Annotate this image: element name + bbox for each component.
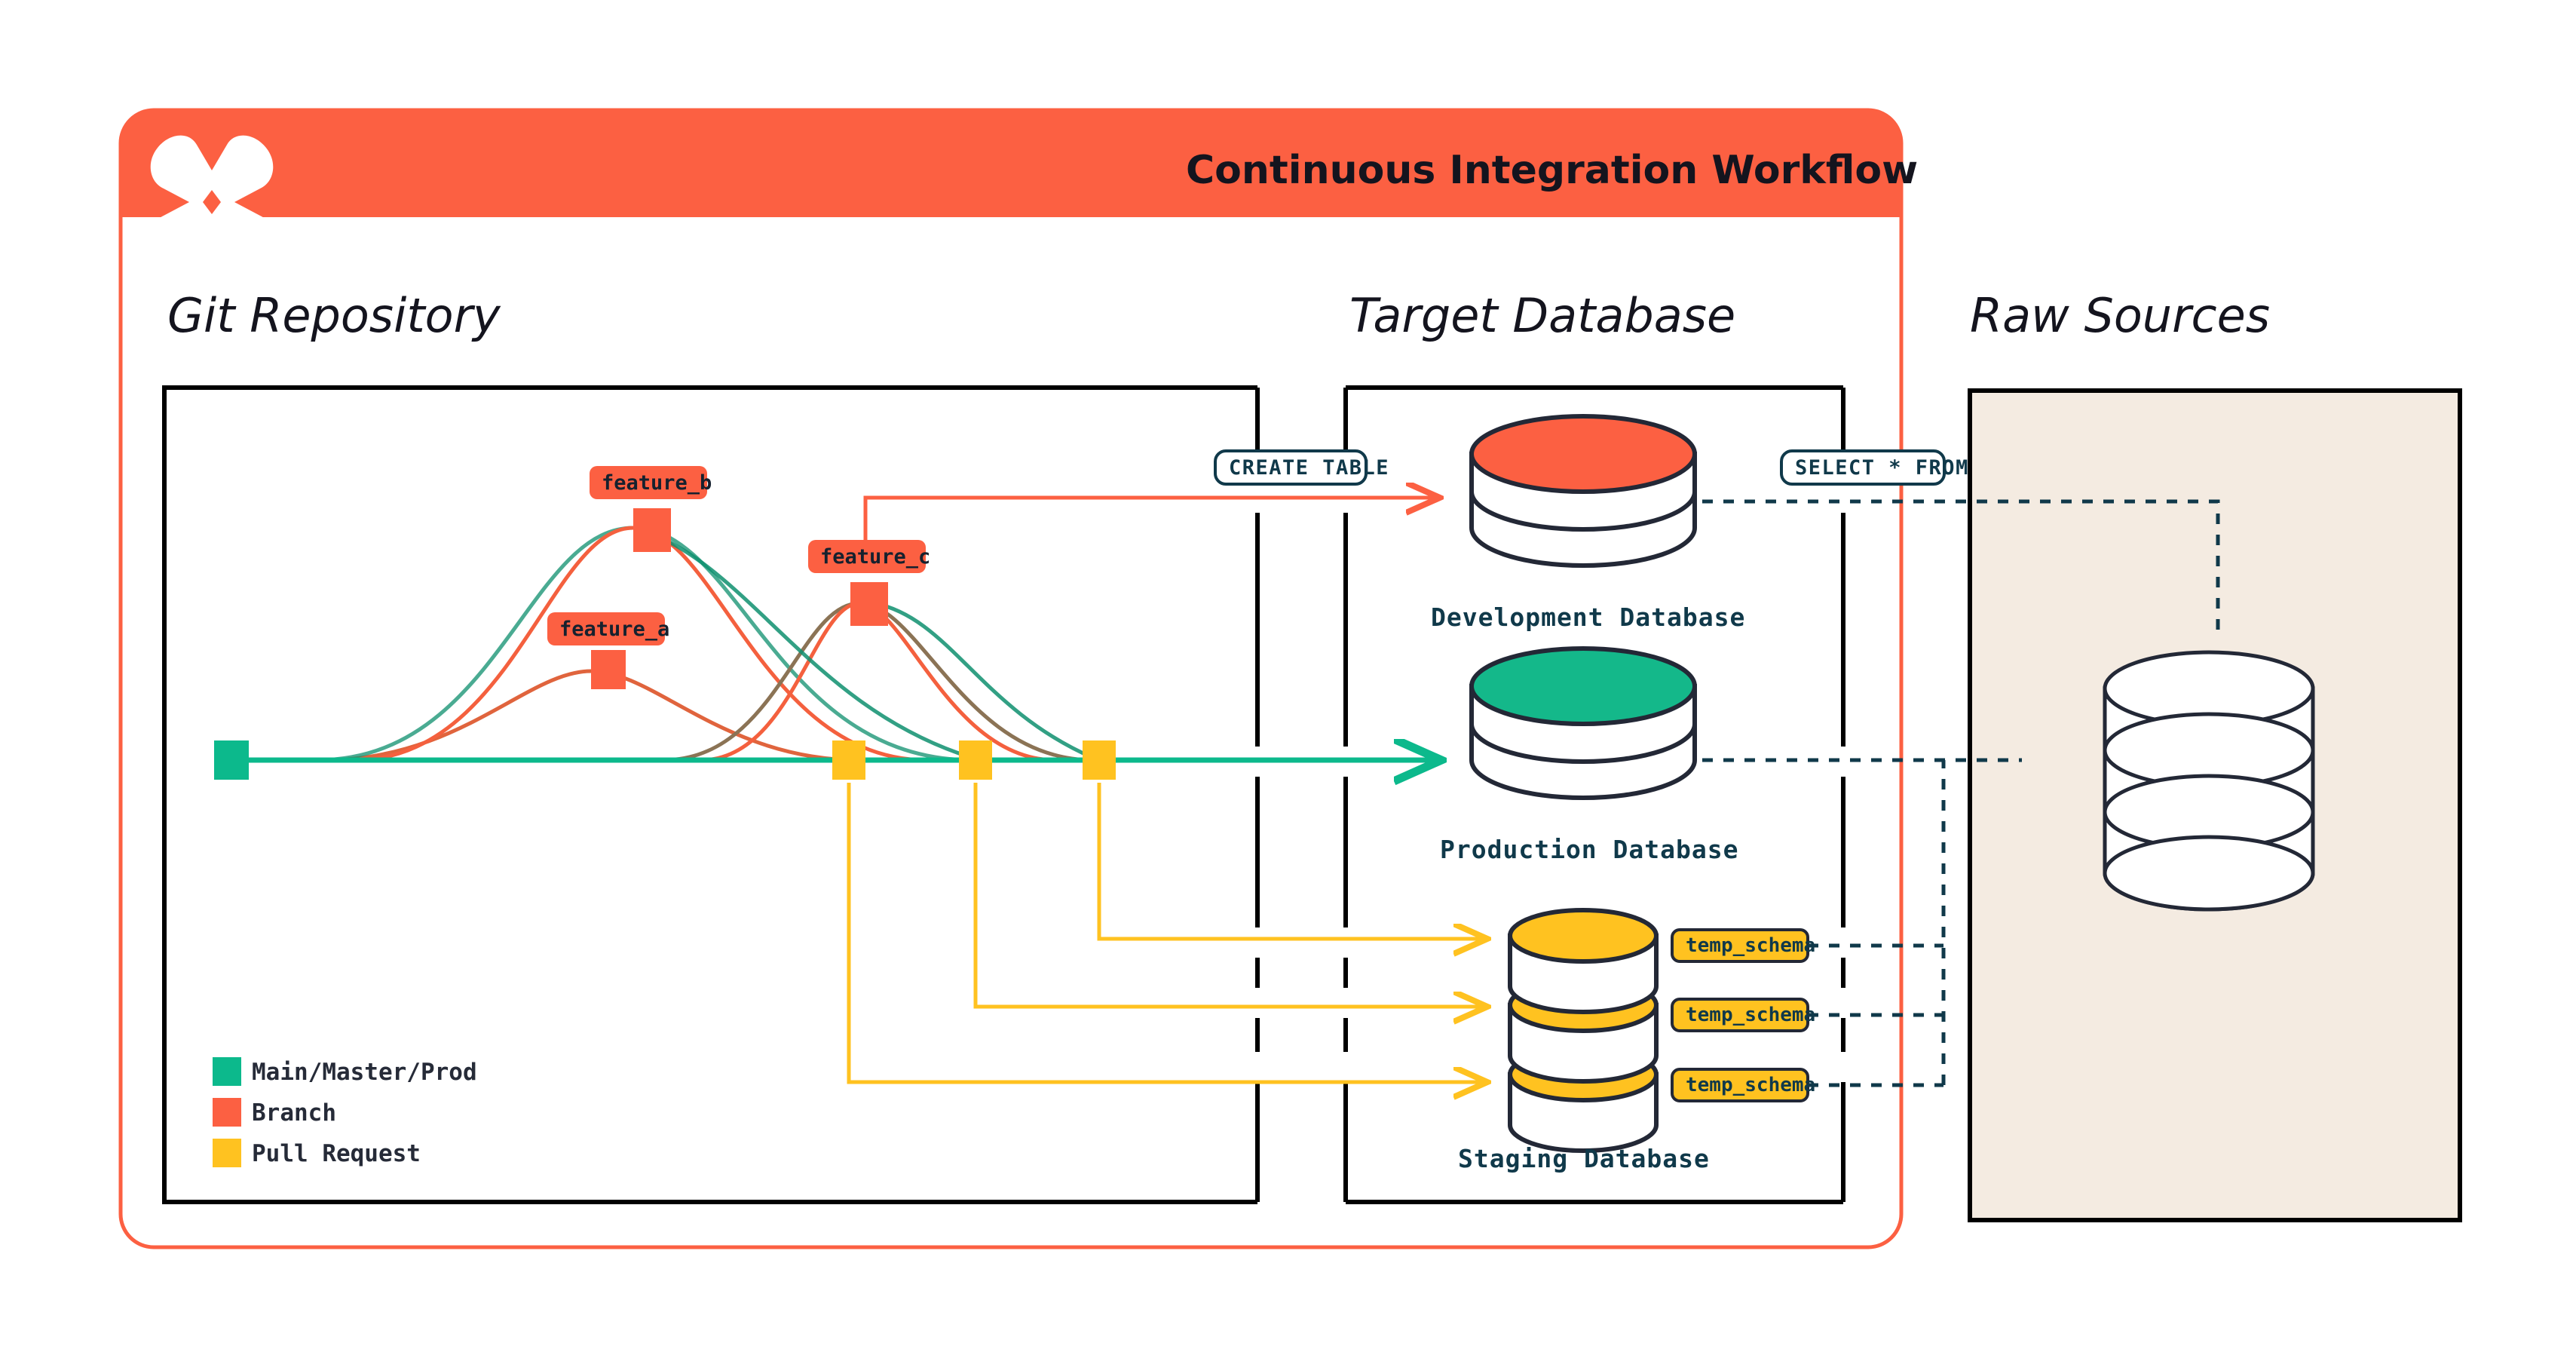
- branch-label-feature-c[interactable]: feature_c: [808, 540, 930, 573]
- schema-pill-3-text: temp_schema: [1686, 1074, 1815, 1096]
- annotation-create-table[interactable]: CREATE TABLE: [1215, 451, 1389, 484]
- schema-pill-2-text: temp_schema: [1686, 1004, 1815, 1026]
- cylinder-production-database[interactable]: [1472, 648, 1695, 798]
- branch-label-feature-a-text: feature_a: [559, 618, 669, 641]
- commit-node-branch-a[interactable]: [591, 650, 626, 689]
- workflow-diagram: Continuous Integration Workflow Git Repo…: [0, 0, 2576, 1346]
- label-development-database: Development Database: [1431, 602, 1745, 632]
- commit-node-pr-3[interactable]: [1083, 740, 1116, 780]
- branch-label-feature-b-text: feature_b: [602, 471, 712, 495]
- annotation-select-from[interactable]: SELECT * FROM: [1781, 451, 1969, 484]
- commit-node-pr-1[interactable]: [832, 740, 865, 780]
- commit-node-branch-b[interactable]: [633, 508, 671, 552]
- schema-pill-3[interactable]: temp_schema: [1672, 1069, 1815, 1101]
- commit-node-pr-2[interactable]: [959, 740, 992, 780]
- annotation-select-from-text: SELECT * FROM: [1795, 456, 1969, 480]
- commit-node-branch-c[interactable]: [850, 582, 888, 626]
- legend-swatch-pr: [213, 1139, 241, 1167]
- legend-label-branch: Branch: [252, 1099, 336, 1127]
- schema-pill-1[interactable]: temp_schema: [1672, 930, 1815, 961]
- schema-pill-2[interactable]: temp_schema: [1672, 999, 1815, 1031]
- branch-label-feature-c-text: feature_c: [820, 545, 930, 569]
- diagram-canvas: Continuous Integration Workflow Git Repo…: [0, 0, 2576, 1346]
- legend-swatch-branch: [213, 1098, 241, 1127]
- branch-label-feature-a[interactable]: feature_a: [547, 612, 669, 645]
- legend-label-main: Main/Master/Prod: [252, 1059, 477, 1086]
- cylinder-development-database[interactable]: [1472, 416, 1695, 566]
- cylinder-raw-sources[interactable]: [2105, 652, 2313, 909]
- section-title-git: Git Repository: [167, 288, 501, 343]
- commit-node-main-root[interactable]: [214, 740, 249, 780]
- schema-pill-1-text: temp_schema: [1686, 934, 1815, 957]
- cylinder-staging-database[interactable]: [1510, 910, 1656, 1151]
- legend-label-pr: Pull Request: [252, 1140, 421, 1167]
- annotation-create-table-text: CREATE TABLE: [1229, 456, 1389, 480]
- label-staging-database: Staging Database: [1458, 1144, 1710, 1173]
- section-title-target: Target Database: [1349, 288, 1735, 343]
- section-title-raw: Raw Sources: [1970, 288, 2270, 343]
- branch-label-feature-b[interactable]: feature_b: [590, 466, 712, 499]
- page-title: Continuous Integration Workflow: [1186, 148, 1918, 193]
- legend-swatch-main: [213, 1057, 241, 1086]
- label-production-database: Production Database: [1440, 835, 1739, 864]
